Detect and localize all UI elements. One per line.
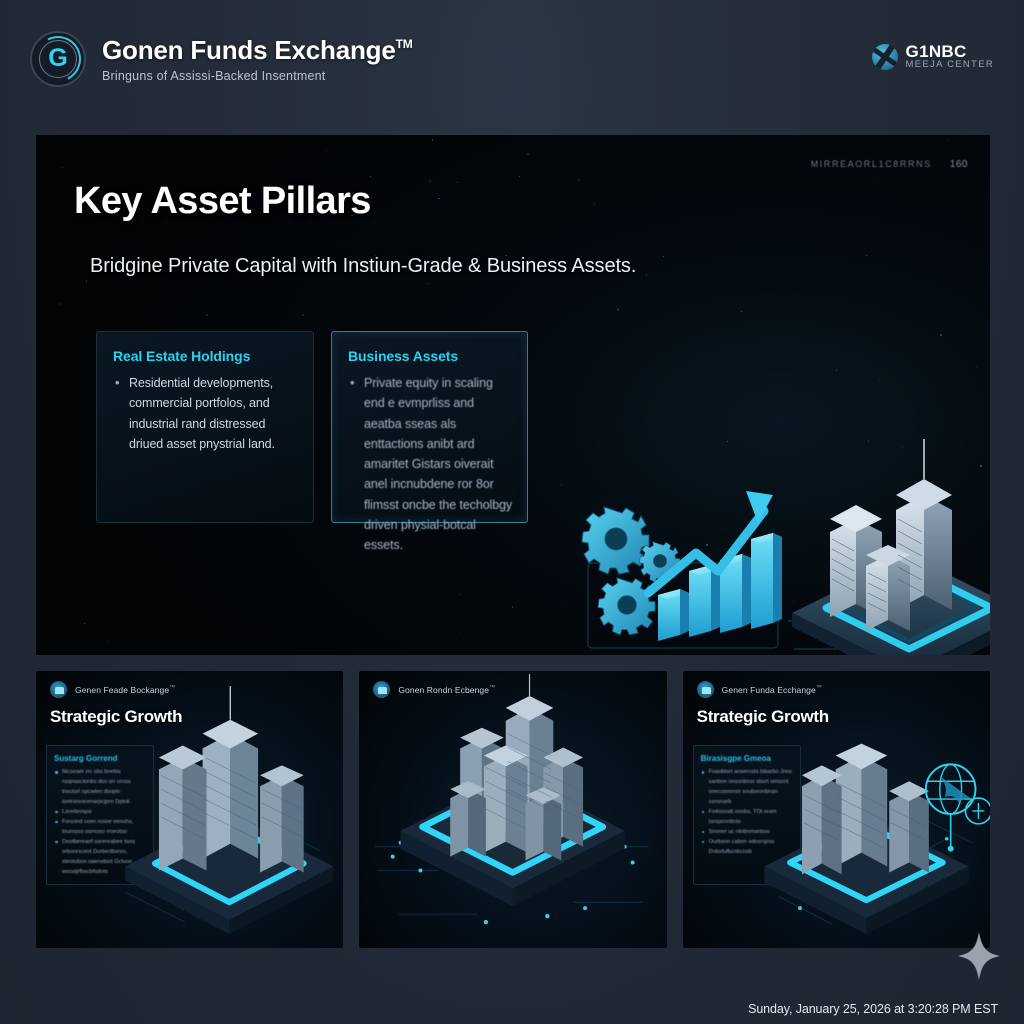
star-dot xyxy=(578,179,580,181)
g1nbc-globe-icon xyxy=(872,44,898,70)
partner-text-block: G1NBC MEEJA CENTER xyxy=(906,43,994,71)
star-dot xyxy=(429,180,431,182)
partner-subtitle: MEEJA CENTER xyxy=(906,60,994,70)
isometric-city-towers-platform-icon xyxy=(36,671,343,948)
star-dot xyxy=(879,380,880,381)
isometric-city-towers-platform-icon xyxy=(784,435,990,655)
star-dot xyxy=(617,308,619,310)
card-real-estate-holdings: Real Estate Holdings Residential develop… xyxy=(96,331,314,523)
thumbnail-card-2[interactable]: Gonen Rondn Ecbenge™ xyxy=(359,671,666,948)
star-dot xyxy=(866,255,868,257)
list-item: Private equity in scaling end e evmprlis… xyxy=(348,373,513,555)
circular-g-ring-icon: G xyxy=(30,31,86,87)
star-dot xyxy=(326,150,327,151)
star-dot xyxy=(836,369,837,370)
star-dot xyxy=(62,167,63,168)
star-dot xyxy=(457,182,458,183)
star-dot xyxy=(460,594,461,595)
brand-identity: G Gonen Funds ExchangeTM Bringuns of Ass… xyxy=(30,31,413,87)
star-dot xyxy=(519,176,520,177)
brand-title-text: Gonen Funds Exchange xyxy=(102,35,396,66)
star-dot xyxy=(428,283,429,284)
card-business-assets: Business Assets Private equity in scalin… xyxy=(331,331,528,523)
star-dot xyxy=(206,314,208,316)
star-dot xyxy=(372,302,373,303)
star-dot xyxy=(460,632,461,633)
star-dot xyxy=(646,274,648,276)
globe-icon xyxy=(926,764,990,851)
star-dot xyxy=(976,367,977,368)
star-dot xyxy=(72,178,73,179)
star-dot xyxy=(564,603,565,604)
star-dot xyxy=(877,178,878,179)
thumbnail-card-1[interactable]: Genen Feade Bockange™ Strategic Growth S… xyxy=(36,671,343,948)
star-dot xyxy=(527,153,529,155)
star-dot xyxy=(108,641,109,642)
thumbnail-strip: Genen Feade Bockange™ Strategic Growth S… xyxy=(36,671,990,948)
logo-letter-g: G xyxy=(32,33,84,85)
slide-meta-number: 160 xyxy=(950,159,968,170)
star-dot xyxy=(432,139,433,140)
top-brand-bar: G Gonen Funds ExchangeTM Bringuns of Ass… xyxy=(0,0,1024,133)
star-dot xyxy=(438,198,439,199)
brand-tagline: Bringuns of Assissi-Backed Insentment xyxy=(102,69,413,83)
star-dot xyxy=(571,195,572,196)
partner-name: G1NBC xyxy=(906,43,994,61)
star-dot xyxy=(663,256,664,257)
list-item: Residential developments, commercial por… xyxy=(113,373,299,454)
star-dot xyxy=(561,484,562,485)
card-bullet-list: Residential developments, commercial por… xyxy=(113,373,299,454)
page-subtitle: Bridgine Private Capital with Instiun-Gr… xyxy=(90,255,636,278)
star-dot xyxy=(86,280,87,281)
four-point-star-icon xyxy=(956,930,1002,982)
star-dot xyxy=(948,139,949,140)
brand-title: Gonen Funds ExchangeTM xyxy=(102,35,413,66)
brand-trademark: TM xyxy=(396,37,413,51)
star-dot xyxy=(727,441,728,442)
star-dot xyxy=(370,176,371,177)
brand-text-block: Gonen Funds ExchangeTM Bringuns of Assis… xyxy=(102,35,413,83)
isometric-city-skyline-platform-icon xyxy=(359,671,666,948)
star-dot xyxy=(741,311,742,312)
slide-meta: MIRREAORL1C8RRNS 160 xyxy=(811,159,968,170)
star-dot xyxy=(512,606,514,608)
card-heading: Real Estate Holdings xyxy=(113,348,299,364)
timestamp: Sunday, January 25, 2026 at 3:20:28 PM E… xyxy=(748,1002,998,1016)
star-dot xyxy=(302,314,303,315)
footer-bar: Sunday, January 25, 2026 at 3:20:28 PM E… xyxy=(748,1002,998,1016)
card-bullet-list: Private equity in scaling end e evmprlis… xyxy=(348,373,513,555)
star-dot xyxy=(84,623,85,624)
star-dot xyxy=(594,204,595,205)
partner-logo: G1NBC MEEJA CENTER xyxy=(872,43,994,71)
slide-meta-label: MIRREAORL1C8RRNS xyxy=(811,159,932,169)
star-dot xyxy=(940,334,942,336)
page-title: Key Asset Pillars xyxy=(74,180,371,223)
card-heading: Business Assets xyxy=(348,348,513,364)
isometric-city-towers-globe-icon xyxy=(683,671,990,948)
thumbnail-card-3[interactable]: Genen Funda Ecchange™ Strategic Growth B… xyxy=(683,671,990,948)
star-dot xyxy=(59,303,60,304)
main-slide-panel: MIRREAORL1C8RRNS 160 Key Asset Pillars B… xyxy=(36,135,990,655)
star-dot xyxy=(539,299,540,300)
